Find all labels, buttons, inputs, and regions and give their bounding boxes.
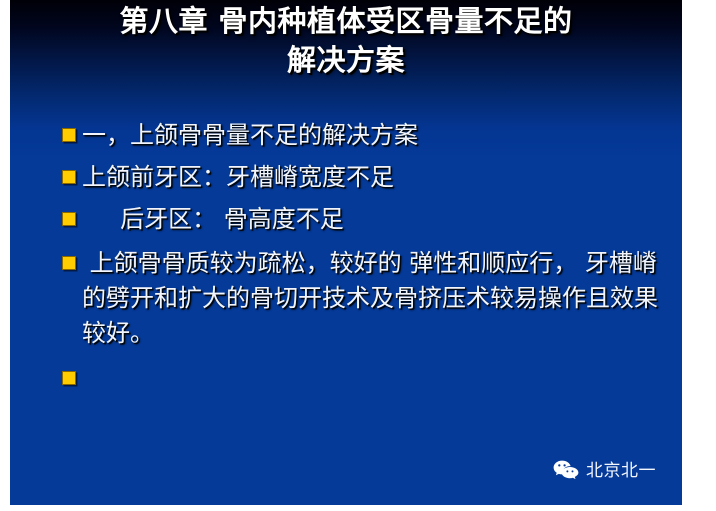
slide-title-line-2: 解决方案 [10, 41, 682, 80]
watermark-label: 北京北一 [586, 461, 656, 481]
bullet-item-2-label: 上颌前牙区：牙槽嵴宽度不足 [82, 160, 658, 194]
bullet-item-5 [10, 361, 682, 395]
bullet-item-4: 上颌骨骨质较为疏松，较好的 弹性和顺应行， 牙槽嵴的劈开和扩大的骨切开技术及骨挤… [10, 246, 682, 351]
square-bullet-icon [62, 170, 76, 184]
bullet-item-4-label: 上颌骨骨质较为疏松，较好的 弹性和顺应行， 牙槽嵴的劈开和扩大的骨切开技术及骨挤… [82, 246, 658, 351]
presentation-slide: 第八章 骨内种植体受区骨量不足的 解决方案 一，上颌骨骨量不足的解决方案 上颌前… [10, 0, 682, 505]
square-bullet-icon [62, 256, 76, 270]
wechat-icon [553, 460, 579, 481]
square-bullet-icon [62, 371, 76, 385]
square-bullet-icon [62, 212, 76, 226]
slide-bullet-list: 一，上颌骨骨量不足的解决方案 上颌前牙区：牙槽嵴宽度不足 后牙区： 骨高度不足 … [10, 118, 682, 397]
bullet-item-3-label: 后牙区： 骨高度不足 [82, 202, 658, 236]
slide-title: 第八章 骨内种植体受区骨量不足的 解决方案 [10, 2, 682, 80]
bullet-item-2: 上颌前牙区：牙槽嵴宽度不足 [10, 160, 682, 198]
bullet-item-1: 一，上颌骨骨量不足的解决方案 [10, 118, 682, 156]
slide-title-line-1: 第八章 骨内种植体受区骨量不足的 [10, 2, 682, 41]
square-bullet-icon [62, 128, 76, 142]
bullet-item-1-label: 一，上颌骨骨量不足的解决方案 [82, 118, 658, 152]
bullet-item-3: 后牙区： 骨高度不足 [10, 202, 682, 240]
watermark: 北京北一 [553, 460, 656, 481]
